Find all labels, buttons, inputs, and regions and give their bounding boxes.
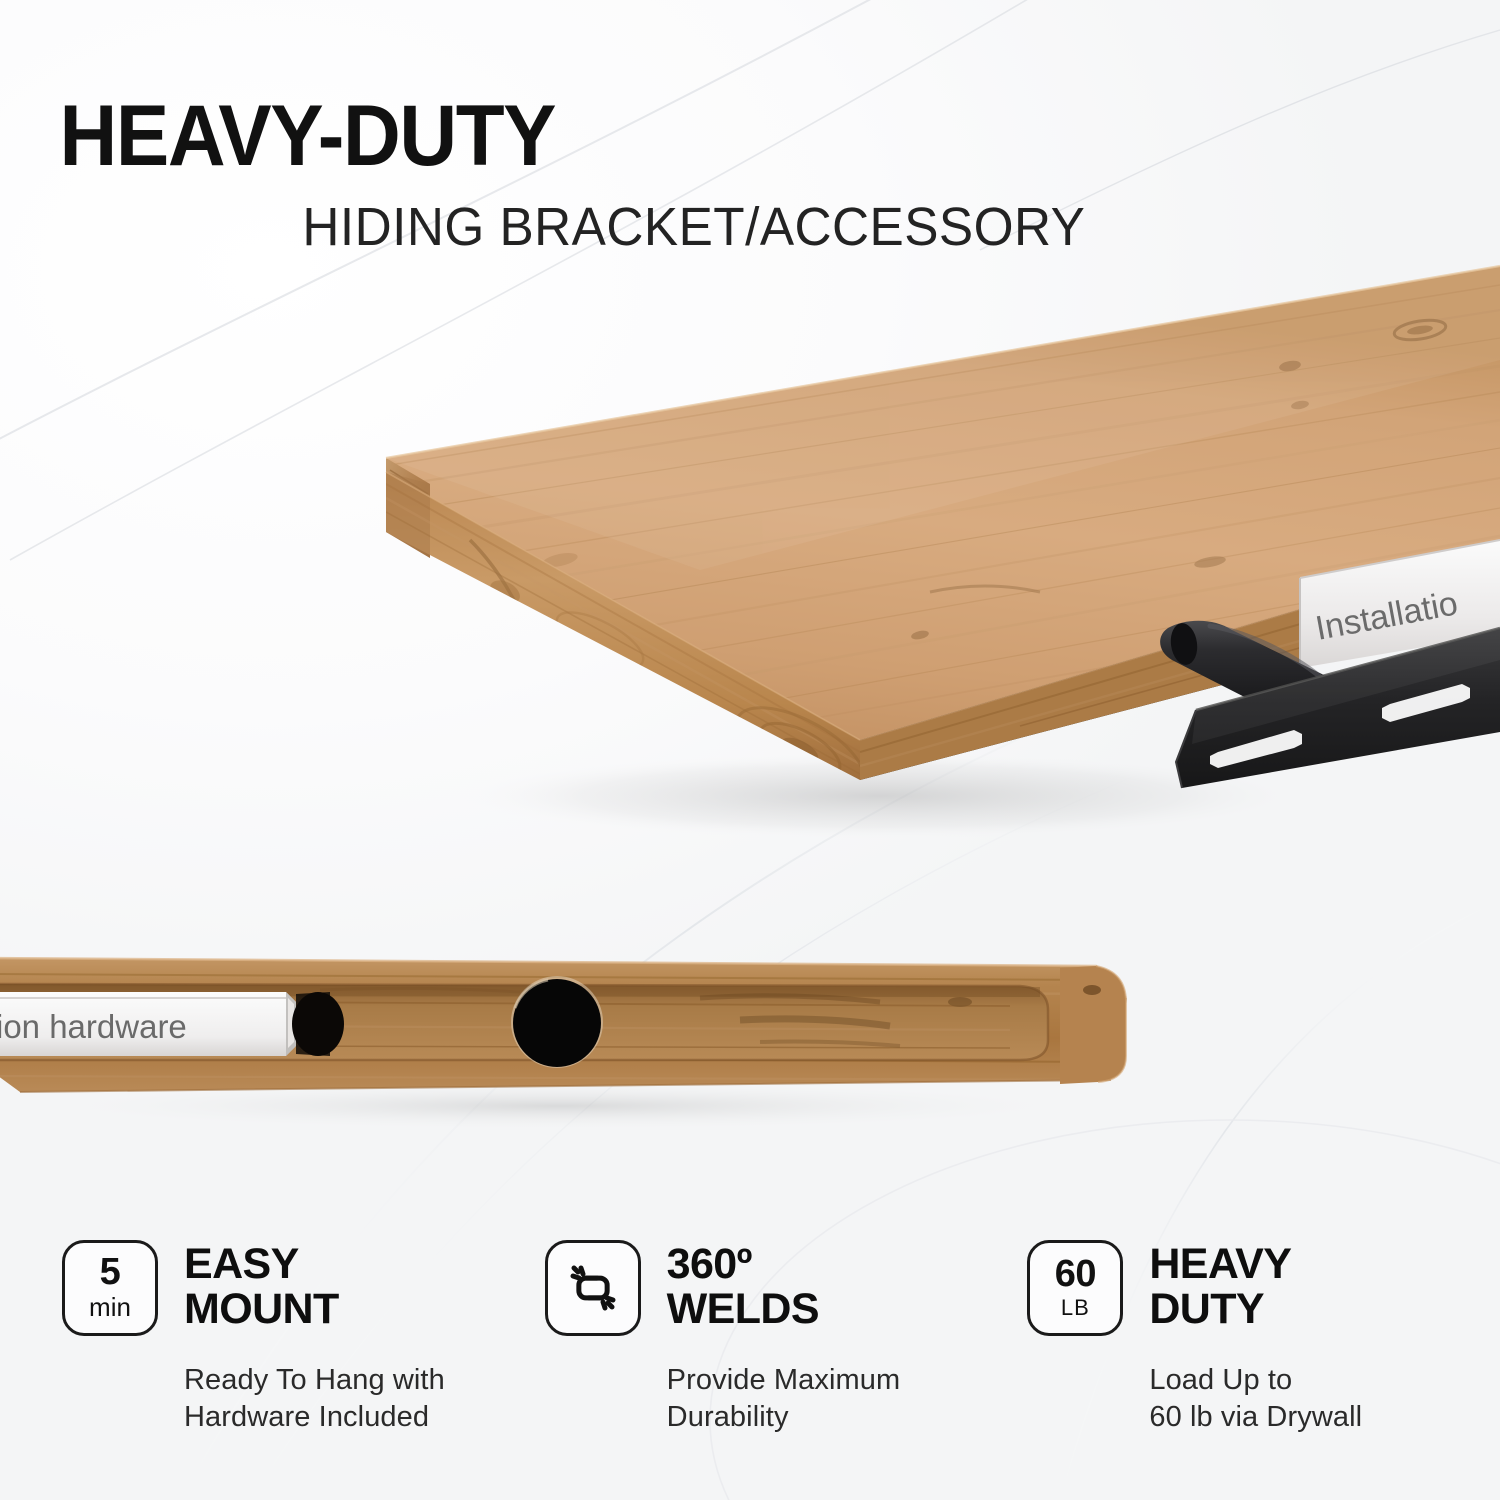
feature-easy-mount: 5 min EASY MOUNT Ready To Hang with Hard… xyxy=(62,1240,535,1470)
badge-number: 60 xyxy=(1055,1255,1096,1293)
badge-number: 5 xyxy=(100,1253,121,1291)
header-block: HEAVY-DUTY HIDING BRACKET/ACCESSORY xyxy=(0,96,1110,255)
feature-title: 360º WELDS xyxy=(667,1240,819,1331)
product-photo-shelf-channel-detail: ion hardware xyxy=(0,880,1500,1160)
page-title: HEAVY-DUTY xyxy=(0,96,1032,178)
clock-badge-icon: 5 min xyxy=(62,1240,158,1336)
feature-row: 5 min EASY MOUNT Ready To Hang with Hard… xyxy=(0,1240,1500,1470)
feature-title: HEAVY DUTY xyxy=(1149,1240,1291,1331)
feature-title: EASY MOUNT xyxy=(184,1240,339,1331)
badge-unit: min xyxy=(89,1293,131,1323)
weight-badge-icon: 60 LB xyxy=(1027,1240,1123,1336)
installation-hardware-box-detail: ion hardware xyxy=(0,992,296,1056)
badge-unit: LB xyxy=(1061,1295,1090,1320)
bracket-rod-hole xyxy=(511,976,603,1068)
hardware-box-label-detail: ion hardware xyxy=(0,1008,187,1045)
product-photo-shelf-with-bracket: Installatio xyxy=(0,240,1500,840)
feature-heavy-duty: 60 LB HEAVY DUTY Load Up to 60 lb via Dr… xyxy=(1027,1240,1500,1470)
feature-360-welds: 360º WELDS Provide Maximum Durability xyxy=(545,1240,1018,1470)
chain-weld-icon xyxy=(545,1240,641,1336)
product-marketing-image: HEAVY-DUTY HIDING BRACKET/ACCESSORY xyxy=(0,0,1500,1500)
feature-description: Load Up to 60 lb via Drywall xyxy=(1149,1362,1500,1436)
feature-description: Provide Maximum Durability xyxy=(667,1362,1018,1436)
feature-description: Ready To Hang with Hardware Included xyxy=(184,1362,535,1436)
